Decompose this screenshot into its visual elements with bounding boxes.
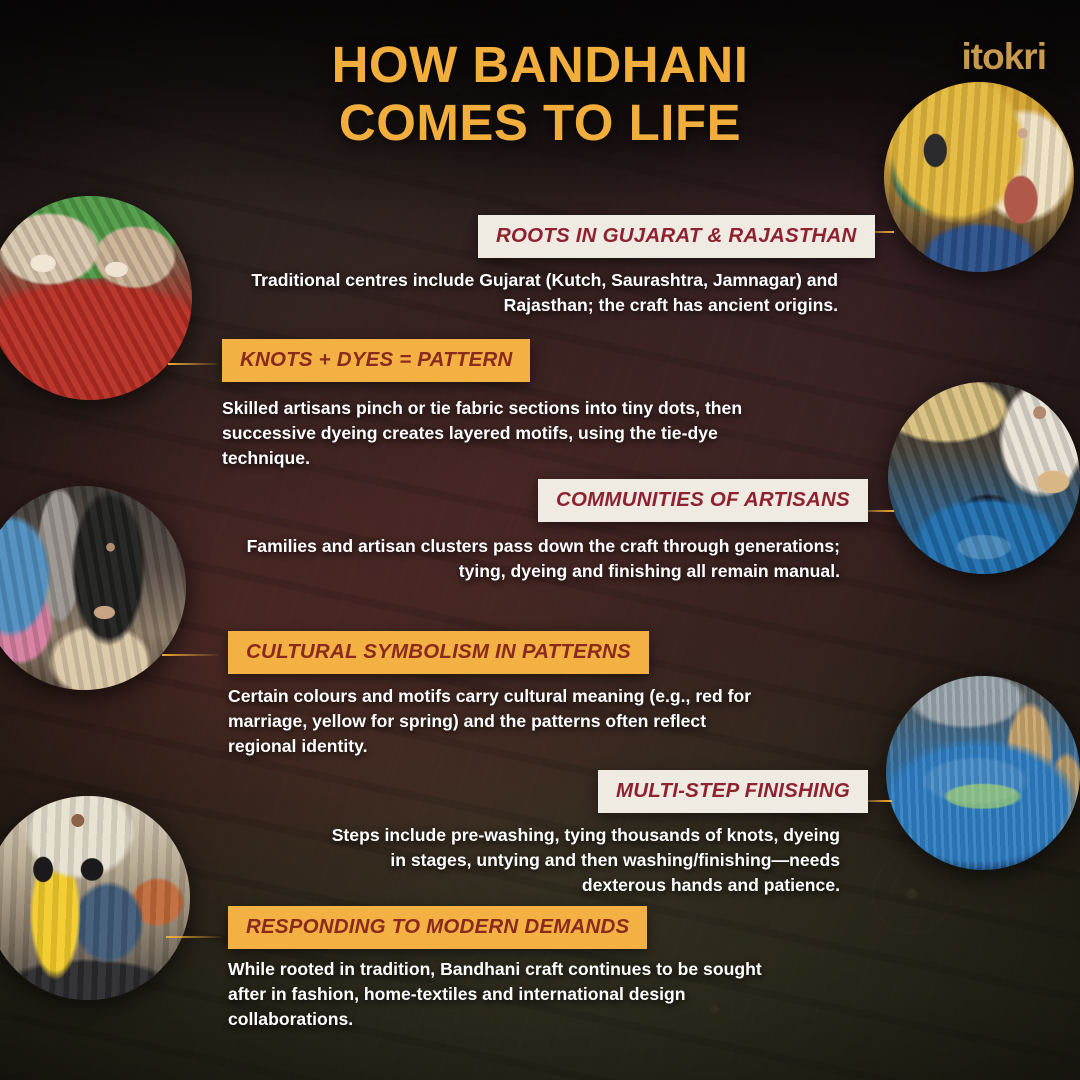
photo-women-yellow-room — [884, 82, 1074, 272]
title-line-2: COMES TO LIFE — [150, 94, 930, 152]
section-badge-communities[interactable]: COMMUNITIES OF ARTISANS — [538, 479, 868, 522]
connector-line-modern — [166, 936, 222, 938]
scene-art — [886, 676, 1080, 870]
scene-art — [0, 796, 190, 1000]
section-badge-roots[interactable]: ROOTS IN GUJARAT & RAJASTHAN — [478, 215, 875, 258]
section-badge-modern-demands[interactable]: RESPONDING TO MODERN DEMANDS — [228, 906, 647, 949]
section-body-finishing: Steps include pre-washing, tying thousan… — [320, 823, 840, 898]
section-badge-finishing[interactable]: MULTI-STEP FINISHING — [598, 770, 868, 813]
connector-line-symbolism — [162, 654, 218, 656]
title-line-1: HOW BANDHANI — [332, 36, 749, 93]
photo-women-tying-cloth — [0, 486, 186, 690]
medallion-photo — [886, 676, 1080, 870]
section-body-roots: Traditional centres include Gujarat (Kut… — [238, 268, 838, 318]
connector-line-knots — [168, 363, 220, 365]
photo-dyer-blue-tub — [888, 382, 1080, 574]
scene-art — [884, 82, 1074, 272]
photo-indigo-vat — [886, 676, 1080, 870]
scene-art — [888, 382, 1080, 574]
medallion-photo — [884, 82, 1074, 272]
section-badge-knots-dyes[interactable]: KNOTS + DYES = PATTERN — [222, 339, 530, 382]
photo-yellow-dyer — [0, 796, 190, 1000]
section-body-communities: Families and artisan clusters pass down … — [230, 534, 840, 584]
medallion-photo — [0, 796, 190, 1000]
medallion-photo — [888, 382, 1080, 574]
section-badge-symbolism[interactable]: CULTURAL SYMBOLISM IN PATTERNS — [228, 631, 649, 674]
medallion-photo — [0, 486, 186, 690]
section-body-knots-dyes: Skilled artisans pinch or tie fabric sec… — [222, 396, 752, 471]
photo-hands-tying-red — [0, 196, 192, 400]
section-body-modern-demands: While rooted in tradition, Bandhani craf… — [228, 957, 788, 1032]
scene-art — [0, 196, 192, 400]
medallion-photo — [0, 196, 192, 400]
scene-art — [0, 486, 186, 690]
infographic-poster: HOW BANDHANI COMES TO LIFE itokri — [0, 0, 1080, 1080]
section-body-symbolism: Certain colours and motifs carry cultura… — [228, 684, 768, 759]
